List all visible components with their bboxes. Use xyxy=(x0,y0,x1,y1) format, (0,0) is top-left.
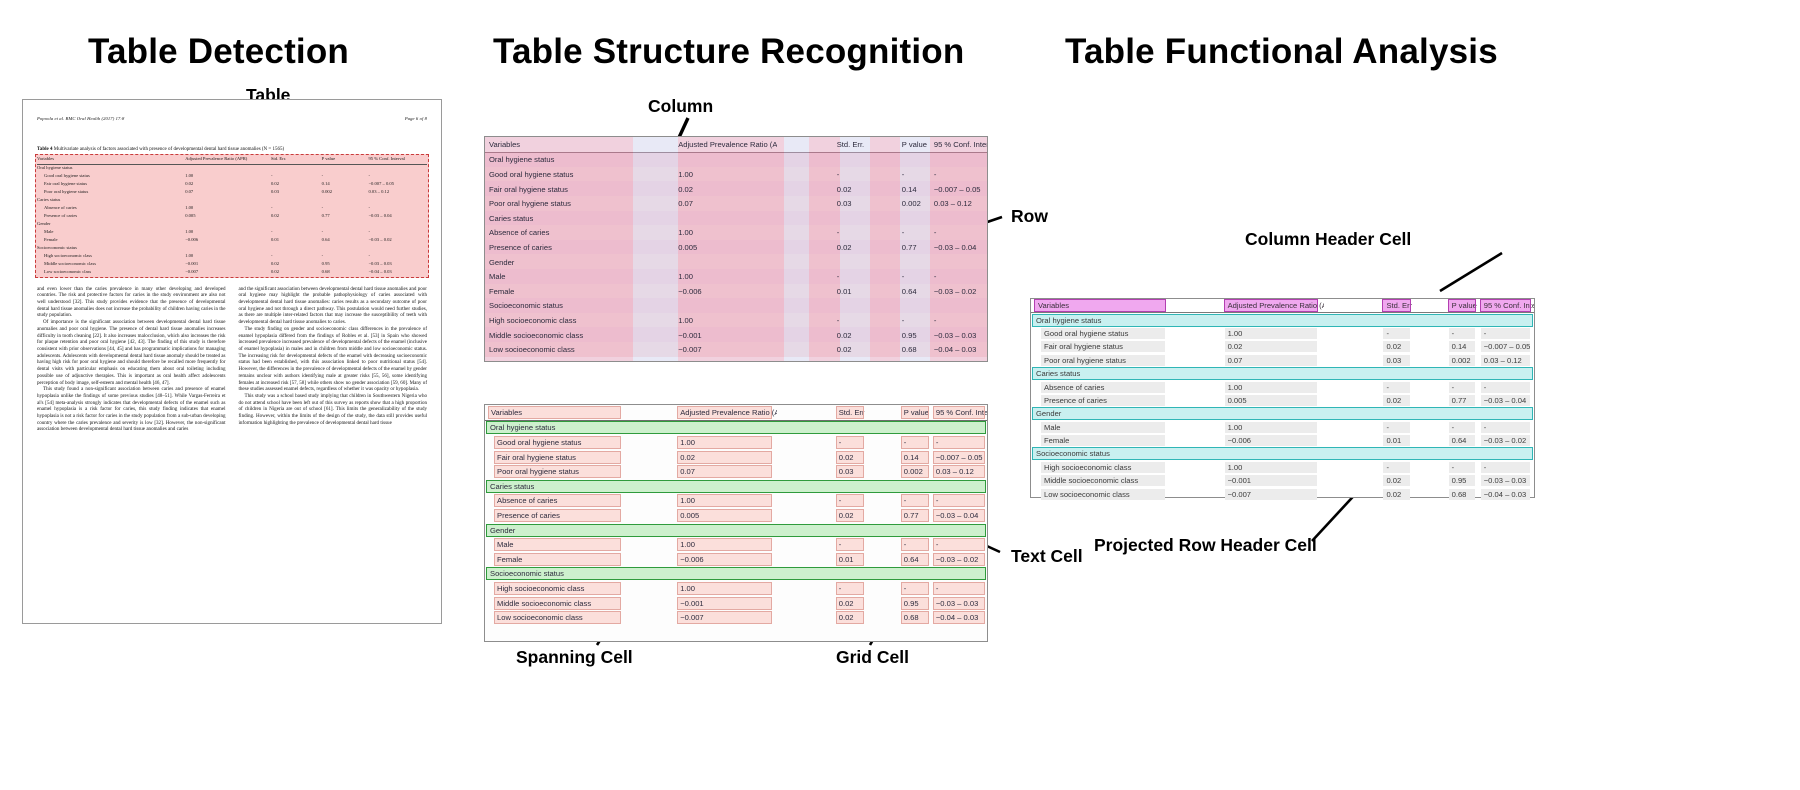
spanning-cell-container: Socioeconomic status xyxy=(485,567,987,582)
data-cell: 0.07 xyxy=(185,189,271,197)
row-header-cell: Low socioeconomic class xyxy=(37,269,185,277)
data-cell: −0.04 – 0.03 xyxy=(930,610,987,625)
row-header-cell: Socioeconomic status xyxy=(37,245,185,253)
data-cell xyxy=(865,211,898,226)
data-cell xyxy=(777,167,833,182)
row-header-cell: Fair oral hygiene status xyxy=(37,181,185,189)
data-cell xyxy=(777,284,833,299)
annotation-column-header-cell: Column Header Cell xyxy=(1245,229,1411,250)
spanning-cell: Caries status xyxy=(487,481,985,492)
data-cell: 0.02 xyxy=(271,261,322,269)
column-header-cell: Std. Err xyxy=(1379,299,1411,313)
grid-cell: - xyxy=(934,495,984,506)
grid-cell: Middle socioeconomic class xyxy=(495,598,620,609)
text-cell: 1.00 xyxy=(1221,380,1324,393)
grid-cell: - xyxy=(902,539,928,550)
spacer-cell xyxy=(777,494,833,509)
data-cell: 0.002 xyxy=(322,189,369,197)
data-cell xyxy=(185,245,271,253)
grid-cell: −0.03 – 0.02 xyxy=(934,554,984,565)
text-cell: - xyxy=(1481,328,1531,339)
data-cell: - xyxy=(930,435,987,450)
text-cell: 0.01 xyxy=(1379,434,1411,447)
spanning-cell: Oral hygiene status xyxy=(485,152,628,167)
table-row: Socioeconomic status xyxy=(485,567,987,582)
text-cell: 0.02 xyxy=(1383,489,1409,500)
data-cell xyxy=(930,255,987,270)
text-cell: - xyxy=(1481,382,1531,393)
data-cell xyxy=(777,137,833,152)
row-header-cell: High socioeconomic class xyxy=(37,253,185,261)
text-cell: - xyxy=(1477,421,1534,434)
spacer-cell xyxy=(1324,299,1380,313)
text-cell: 0.02 xyxy=(1379,394,1411,407)
column-header-cell: P value xyxy=(898,137,930,152)
table-header-row: VariablesAdjusted Prevalence Ratio (APRS… xyxy=(485,405,987,420)
spacer-cell xyxy=(777,537,833,552)
spacer-cell xyxy=(1324,340,1380,353)
running-head-left: Popoola et al. BMC Oral Health (2017) 17… xyxy=(37,116,124,121)
row-header-cell: Poor oral hygiene status xyxy=(37,189,185,197)
table-row: Fair oral hygiene status0.020.020.14−0.0… xyxy=(37,181,427,189)
data-cell: −0.001 xyxy=(185,261,271,269)
table-row: Male1.00--- xyxy=(37,229,427,237)
data-cell: - xyxy=(930,269,987,284)
spacer-cell xyxy=(1412,487,1445,500)
spacer-cell xyxy=(1324,434,1380,447)
data-cell xyxy=(628,342,674,357)
text-cell: −0.03 – 0.04 xyxy=(1477,394,1534,407)
text-cell: 1.00 xyxy=(1221,461,1324,474)
data-cell: 0.002 xyxy=(898,464,930,479)
data-cell xyxy=(777,255,833,270)
structure-table: VariablesAdjusted Prevalence Ratio (APR)… xyxy=(485,137,987,357)
row-header-cell: Absence of caries xyxy=(37,205,185,213)
data-cell: 0.77 xyxy=(898,240,930,255)
data-cell: 0.01 xyxy=(833,284,865,299)
table-row: Gender xyxy=(485,523,987,538)
data-cell xyxy=(322,221,369,229)
grid-cell: 0.64 xyxy=(902,554,928,565)
column-header-cell: Adjusted Prevalence Ratio (APR xyxy=(1221,299,1324,313)
paragraph: This study was a school based study impl… xyxy=(239,393,428,427)
grid-cell: 0.95 xyxy=(902,598,928,609)
spacer-cell xyxy=(1412,421,1445,434)
data-cell xyxy=(368,245,427,253)
table-row: Middle socioeconomic class−0.0010.020.95… xyxy=(37,261,427,269)
spacer-cell xyxy=(777,552,833,567)
column-header-cell: Adjusted Prevalence Ratio (APR) xyxy=(674,137,777,152)
data-cell: - xyxy=(930,167,987,182)
row-header-cell: Absence of caries xyxy=(485,494,628,509)
data-cell xyxy=(865,342,898,357)
table-row: Middle socioeconomic class−0.0010.020.95… xyxy=(1031,474,1534,487)
data-cell xyxy=(777,196,833,211)
data-cell: 0.03 – 0.12 xyxy=(930,464,987,479)
column-header-cell: P value xyxy=(898,405,930,420)
data-cell: - xyxy=(271,253,322,261)
data-cell xyxy=(271,164,322,173)
grid-cell: 1.00 xyxy=(678,583,771,594)
data-cell xyxy=(628,152,674,167)
data-cell: - xyxy=(898,269,930,284)
grid-cell: - xyxy=(934,437,984,448)
data-cell xyxy=(628,269,674,284)
spacer-cell xyxy=(1174,327,1220,340)
grid-cell: - xyxy=(902,495,928,506)
text-cell: Male xyxy=(1041,422,1165,433)
data-cell: 0.68 xyxy=(898,610,930,625)
data-cell: - xyxy=(898,537,930,552)
text-cell: - xyxy=(1449,382,1475,393)
data-cell: 0.005 xyxy=(185,213,271,221)
text-cell: Fair oral hygiene status xyxy=(1041,341,1165,352)
panel-title-table-functional-analysis: Table Functional Analysis xyxy=(1065,32,1498,72)
data-cell: 1.00 xyxy=(185,205,271,213)
projected-row-header-container: Socioeconomic status xyxy=(1031,447,1534,460)
data-cell: 0.95 xyxy=(898,328,930,343)
data-cell xyxy=(628,255,674,270)
table-row: Female−0.0060.010.64−0.03 – 0.02 xyxy=(37,237,427,245)
data-cell xyxy=(628,211,674,226)
text-cell: 0.002 xyxy=(1449,355,1475,366)
row-header-cell: Low socioeconomic class xyxy=(485,610,628,625)
data-cell: −0.03 – 0.03 xyxy=(930,596,987,611)
projected-row-header-cell: Caries status xyxy=(1033,368,1532,379)
text-cell: 0.07 xyxy=(1225,355,1317,366)
data-cell: 0.03 xyxy=(271,189,322,197)
data-cell: 0.03 – 0.12 xyxy=(930,196,987,211)
data-cell: 0.02 xyxy=(833,342,865,357)
spacer-cell xyxy=(1174,474,1220,487)
text-cell: - xyxy=(1445,461,1477,474)
spacer-cell xyxy=(865,435,898,450)
text-cell: −0.001 xyxy=(1221,474,1324,487)
document-column-right: and the significant association between … xyxy=(239,286,428,433)
row-header-cell: Good oral hygiene status xyxy=(485,435,628,450)
row-header-cell: Caries status xyxy=(37,197,185,205)
annotation-column: Column xyxy=(648,96,713,117)
table-row: Gender xyxy=(1031,407,1534,420)
spacer-cell xyxy=(628,405,674,420)
text-cell: 0.02 xyxy=(1379,474,1411,487)
data-cell: - xyxy=(898,313,930,328)
paragraph: Of importance is the significant associa… xyxy=(37,319,226,386)
grid-cell: - xyxy=(934,583,984,594)
grid-cell: 0.07 xyxy=(678,466,771,477)
text-cell: −0.03 – 0.03 xyxy=(1477,474,1534,487)
spacer-cell xyxy=(1174,461,1220,474)
column-header-cell: Variables xyxy=(1031,299,1174,313)
structure-table-cells: VariablesAdjusted Prevalence Ratio (APRS… xyxy=(484,404,988,642)
text-cell: 0.77 xyxy=(1445,394,1477,407)
data-cell xyxy=(777,299,833,314)
row-header-cell: Middle socioeconomic class xyxy=(485,596,628,611)
spacer-cell xyxy=(865,494,898,509)
data-cell: 0.005 xyxy=(674,240,777,255)
data-cell xyxy=(674,255,777,270)
data-cell: 0.02 xyxy=(271,181,322,189)
data-cell xyxy=(833,211,865,226)
document-column-left: and even lower than the caries prevalenc… xyxy=(37,286,226,433)
table-row: Poor oral hygiene status0.070.030.0020.0… xyxy=(485,196,987,211)
table-row: Fair oral hygiene status0.020.020.14−0.0… xyxy=(485,182,987,197)
text-cell: 0.02 xyxy=(1221,340,1324,353)
table-row: Socioeconomic status xyxy=(1031,447,1534,460)
text-cell: 0.02 xyxy=(1383,341,1409,352)
table-row: Absence of caries1.00--- xyxy=(485,226,987,241)
running-head-right: Page 6 of 8 xyxy=(405,116,427,121)
row-header-cell: Gender xyxy=(37,221,185,229)
data-cell xyxy=(930,299,987,314)
data-cell: −0.03 – 0.02 xyxy=(930,284,987,299)
row-header-cell: Good oral hygiene status xyxy=(37,173,185,181)
text-cell: - xyxy=(1477,461,1534,474)
data-cell: 1.00 xyxy=(674,226,777,241)
data-cell xyxy=(777,211,833,226)
row-header-cell: Good oral hygiene status xyxy=(485,167,628,182)
spacer-cell xyxy=(1324,354,1380,367)
data-cell: - xyxy=(898,435,930,450)
data-cell: - xyxy=(930,313,987,328)
data-cell xyxy=(898,152,930,167)
grid-cell: Poor oral hygiene status xyxy=(495,466,620,477)
annotation-grid-cell: Grid Cell xyxy=(836,647,909,668)
table-row: Absence of caries1.00--- xyxy=(1031,380,1534,393)
spacer-cell xyxy=(1412,327,1445,340)
grid-cell: Fair oral hygiene status xyxy=(495,452,620,463)
cell-structure-table: VariablesAdjusted Prevalence Ratio (APRS… xyxy=(485,405,987,625)
text-cell: −0.03 – 0.02 xyxy=(1477,434,1534,447)
data-cell: - xyxy=(930,226,987,241)
row-header-cell: Fair oral hygiene status xyxy=(485,450,628,465)
column-header-cell: Adjusted Prevalence Ratio (APR xyxy=(674,405,777,420)
spacer-cell xyxy=(1412,340,1445,353)
document-body: and even lower than the caries prevalenc… xyxy=(37,286,427,433)
data-cell: −0.001 xyxy=(674,596,777,611)
spacer-cell xyxy=(1174,340,1220,353)
grid-cell: −0.006 xyxy=(678,554,771,565)
text-cell: 1.00 xyxy=(1225,422,1317,433)
grid-cell: 0.02 xyxy=(837,452,863,463)
grid-cell: P value xyxy=(902,407,928,418)
panel-title-table-detection: Table Detection xyxy=(88,32,349,72)
data-cell: 0.95 xyxy=(898,596,930,611)
spacer-cell xyxy=(1324,394,1380,407)
spacer-cell xyxy=(1412,299,1445,313)
data-cell: −0.007 xyxy=(185,269,271,277)
row-header-cell: Fair oral hygiene status xyxy=(485,182,628,197)
paragraph: This study found a non-significant assoc… xyxy=(37,386,226,433)
row-header-cell: Oral hygiene status xyxy=(37,164,185,173)
spacer-cell xyxy=(777,581,833,596)
detected-table-region: VariablesAdjusted Prevalence Ratio (APR)… xyxy=(37,155,427,276)
grid-cell: - xyxy=(902,437,928,448)
spacer-cell xyxy=(1412,474,1445,487)
column-header-cell: Std. Err. xyxy=(833,137,865,152)
table-row: Low socioeconomic class−0.0070.020.68−0.… xyxy=(485,610,987,625)
table-row: Presence of caries0.0050.020.77−0.03 – 0… xyxy=(485,508,987,523)
text-cell: 1.00 xyxy=(1221,327,1324,340)
grid-cell: −0.007 – 0.05 xyxy=(934,452,984,463)
text-cell: 0.68 xyxy=(1445,487,1477,500)
row-header-cell: Fair oral hygiene status xyxy=(1031,340,1174,353)
row-header-cell: Middle socioeconomic class xyxy=(37,261,185,269)
column-header-cell: Variables xyxy=(37,155,185,164)
row-header-cell: Poor oral hygiene status xyxy=(485,464,628,479)
data-cell xyxy=(628,167,674,182)
data-cell: 0.64 xyxy=(322,237,369,245)
text-cell: 1.00 xyxy=(1225,328,1317,339)
text-cell: Low socioeconomic class xyxy=(1041,489,1165,500)
text-cell: - xyxy=(1445,327,1477,340)
data-cell xyxy=(865,196,898,211)
data-cell: - xyxy=(833,494,865,509)
paragraph: The study finding on gender and socioeco… xyxy=(239,326,428,393)
grid-cell: 95 % Conf. Interval xyxy=(934,407,984,418)
text-cell: −0.007 xyxy=(1225,489,1317,500)
table-row: Poor oral hygiene status0.070.030.0020.0… xyxy=(1031,354,1534,367)
data-cell: 0.02 xyxy=(833,610,865,625)
spacer-cell xyxy=(1174,380,1220,393)
data-cell: −0.04 – 0.03 xyxy=(930,342,987,357)
grid-cell: - xyxy=(837,495,863,506)
table-row: Low socioeconomic class−0.0070.020.68−0.… xyxy=(1031,487,1534,500)
data-cell: 0.02 xyxy=(674,450,777,465)
column-header-cell: P value xyxy=(1449,300,1475,311)
column-header-cell: Adjusted Prevalence Ratio (APR) xyxy=(185,155,271,164)
table-caption: Table 4 Multivariate analysis of factors… xyxy=(37,147,427,153)
table-caption-label: Table 4 xyxy=(37,147,53,152)
grid-cell: Absence of caries xyxy=(495,495,620,506)
data-cell xyxy=(628,137,674,152)
spacer-cell xyxy=(1174,487,1220,500)
row-header-cell: Male xyxy=(1031,421,1174,434)
data-cell: 0.07 xyxy=(674,196,777,211)
table-row: Low socioeconomic class−0.0070.020.68−0.… xyxy=(37,269,427,277)
row-header-cell: Poor oral hygiene status xyxy=(485,196,628,211)
grid-cell: −0.001 xyxy=(678,598,771,609)
text-cell: 0.02 xyxy=(1383,395,1409,406)
data-cell: 1.00 xyxy=(674,581,777,596)
grid-cell: 0.02 xyxy=(678,452,771,463)
text-cell: Presence of caries xyxy=(1041,395,1165,406)
spacer-cell xyxy=(628,610,674,625)
text-cell: 0.64 xyxy=(1445,434,1477,447)
table-caption-text: Multivariate analysis of factors associa… xyxy=(54,147,284,152)
data-cell: - xyxy=(833,167,865,182)
text-cell: - xyxy=(1379,461,1411,474)
spacer-cell xyxy=(628,464,674,479)
spacer-cell xyxy=(777,405,833,420)
data-cell xyxy=(271,245,322,253)
spacer-cell xyxy=(628,537,674,552)
grid-cell: 0.002 xyxy=(902,466,928,477)
text-cell: −0.001 xyxy=(1225,475,1317,486)
text-cell: Poor oral hygiene status xyxy=(1041,355,1165,366)
text-cell: 0.01 xyxy=(1383,435,1409,446)
data-cell: - xyxy=(833,537,865,552)
data-cell xyxy=(865,226,898,241)
data-cell: 0.01 xyxy=(271,237,322,245)
data-cell: - xyxy=(368,253,427,261)
data-cell: −0.03 – 0.04 xyxy=(930,508,987,523)
data-cell: 0.02 xyxy=(271,269,322,277)
grid-cell: Good oral hygiene status xyxy=(495,437,620,448)
text-cell: - xyxy=(1449,422,1475,433)
column-header-cell: 95 % Conf. Interval xyxy=(930,137,987,152)
data-cell xyxy=(865,255,898,270)
row-header-cell: Absence of caries xyxy=(1031,380,1174,393)
data-cell: - xyxy=(322,229,369,237)
column-header-cell: Std. Err xyxy=(833,405,865,420)
grid-cell: 0.03 – 0.12 xyxy=(934,466,984,477)
data-cell xyxy=(368,164,427,173)
data-cell: - xyxy=(833,313,865,328)
column-header-cell: 95 % Conf. Interval xyxy=(1477,299,1534,313)
text-cell: −0.04 – 0.03 xyxy=(1477,487,1534,500)
data-cell: −0.03 – 0.04 xyxy=(930,240,987,255)
data-cell: 0.77 xyxy=(322,213,369,221)
data-cell: 1.00 xyxy=(674,435,777,450)
text-cell: - xyxy=(1449,462,1475,473)
spacer-cell xyxy=(777,610,833,625)
text-cell: 0.77 xyxy=(1449,395,1475,406)
data-cell: 0.14 xyxy=(322,181,369,189)
text-cell: 0.68 xyxy=(1449,489,1475,500)
data-cell: −0.03 – 0.04 xyxy=(368,213,427,221)
data-cell xyxy=(777,182,833,197)
data-cell xyxy=(865,269,898,284)
spanning-cell-container: Caries status xyxy=(485,479,987,494)
data-cell: - xyxy=(930,494,987,509)
data-cell: 0.005 xyxy=(674,508,777,523)
data-cell: 0.02 xyxy=(833,328,865,343)
spacer-cell xyxy=(777,508,833,523)
spacer-cell xyxy=(1174,299,1220,313)
grid-cell: 0.02 xyxy=(837,612,863,623)
data-cell: −0.006 xyxy=(185,237,271,245)
text-cell: −0.03 – 0.04 xyxy=(1481,395,1531,406)
text-cell: 0.07 xyxy=(1221,354,1324,367)
table-row: Oral hygiene status xyxy=(485,420,987,435)
spacer-cell xyxy=(777,450,833,465)
data-cell xyxy=(865,137,898,152)
text-cell: 0.14 xyxy=(1445,340,1477,353)
table-row: Good oral hygiene status1.00--- xyxy=(485,167,987,182)
table-row: Poor oral hygiene status0.070.030.0020.0… xyxy=(485,464,987,479)
table-row: High socioeconomic class1.00--- xyxy=(37,253,427,261)
row-header-cell: High socioeconomic class xyxy=(485,313,628,328)
table-row: High socioeconomic class1.00--- xyxy=(485,313,987,328)
column-header-cell: P value xyxy=(322,155,369,164)
data-cell: 0.95 xyxy=(322,261,369,269)
data-cell: −0.03 – 0.03 xyxy=(930,328,987,343)
data-cell: 0.64 xyxy=(898,552,930,567)
data-cell: 1.00 xyxy=(674,167,777,182)
data-cell: 1.00 xyxy=(674,313,777,328)
data-cell xyxy=(865,152,898,167)
text-cell: 0.02 xyxy=(1383,475,1409,486)
data-cell xyxy=(322,245,369,253)
table-row: Low socioeconomic class−0.0070.020.68−0.… xyxy=(485,342,987,357)
text-cell: 0.95 xyxy=(1445,474,1477,487)
spacer-cell xyxy=(1324,380,1380,393)
column-header-cell: Variables xyxy=(485,405,628,420)
data-cell xyxy=(777,269,833,284)
data-cell: 0.01 xyxy=(833,552,865,567)
text-cell: 0.02 xyxy=(1379,340,1411,353)
